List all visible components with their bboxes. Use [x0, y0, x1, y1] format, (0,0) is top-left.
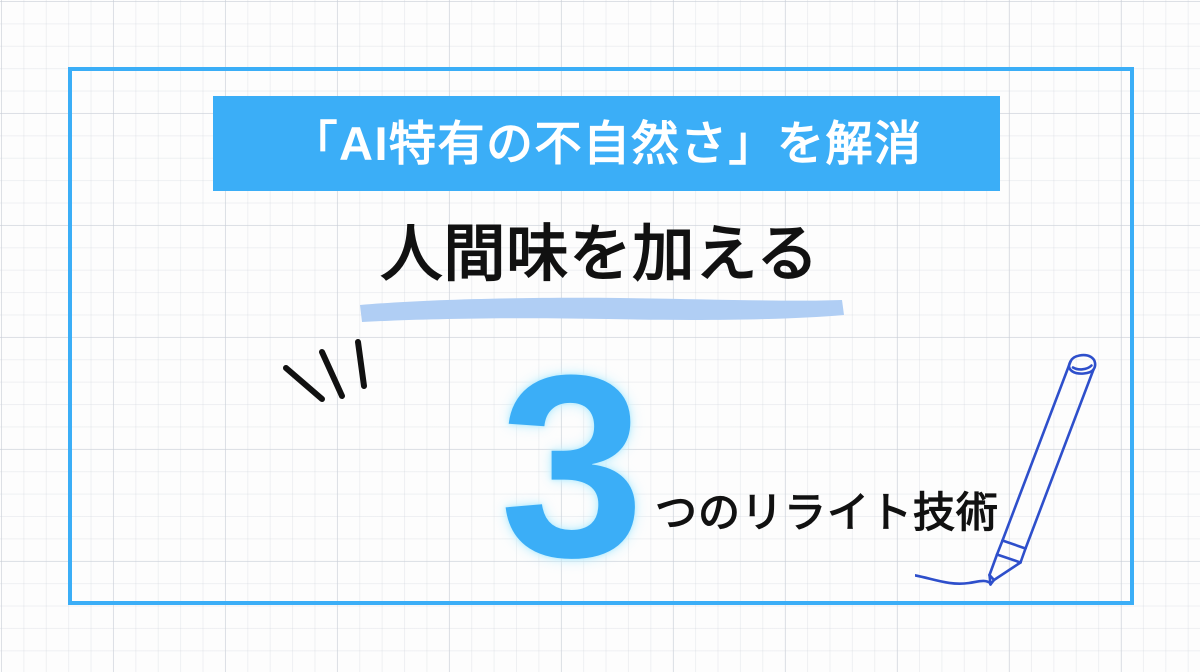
banner-text: 「AI特有の不自然さ」を解消 — [291, 120, 923, 167]
banner-highlight: 「AI特有の不自然さ」を解消 — [213, 96, 1000, 191]
handwritten-squiggle-icon — [915, 574, 991, 584]
slide-canvas: 「AI特有の不自然さ」を解消 人間味を加える 3 つのリライト技術 — [0, 0, 1200, 672]
headline-group: 人間味を加える — [0, 222, 1200, 332]
count-numeral: 3 — [461, 347, 681, 587]
page-title: 人間味を加える — [0, 222, 1200, 287]
pen-writing-icon — [915, 352, 1125, 592]
marker-underline-icon — [358, 294, 844, 322]
emphasis-slashes-icon — [282, 334, 382, 406]
